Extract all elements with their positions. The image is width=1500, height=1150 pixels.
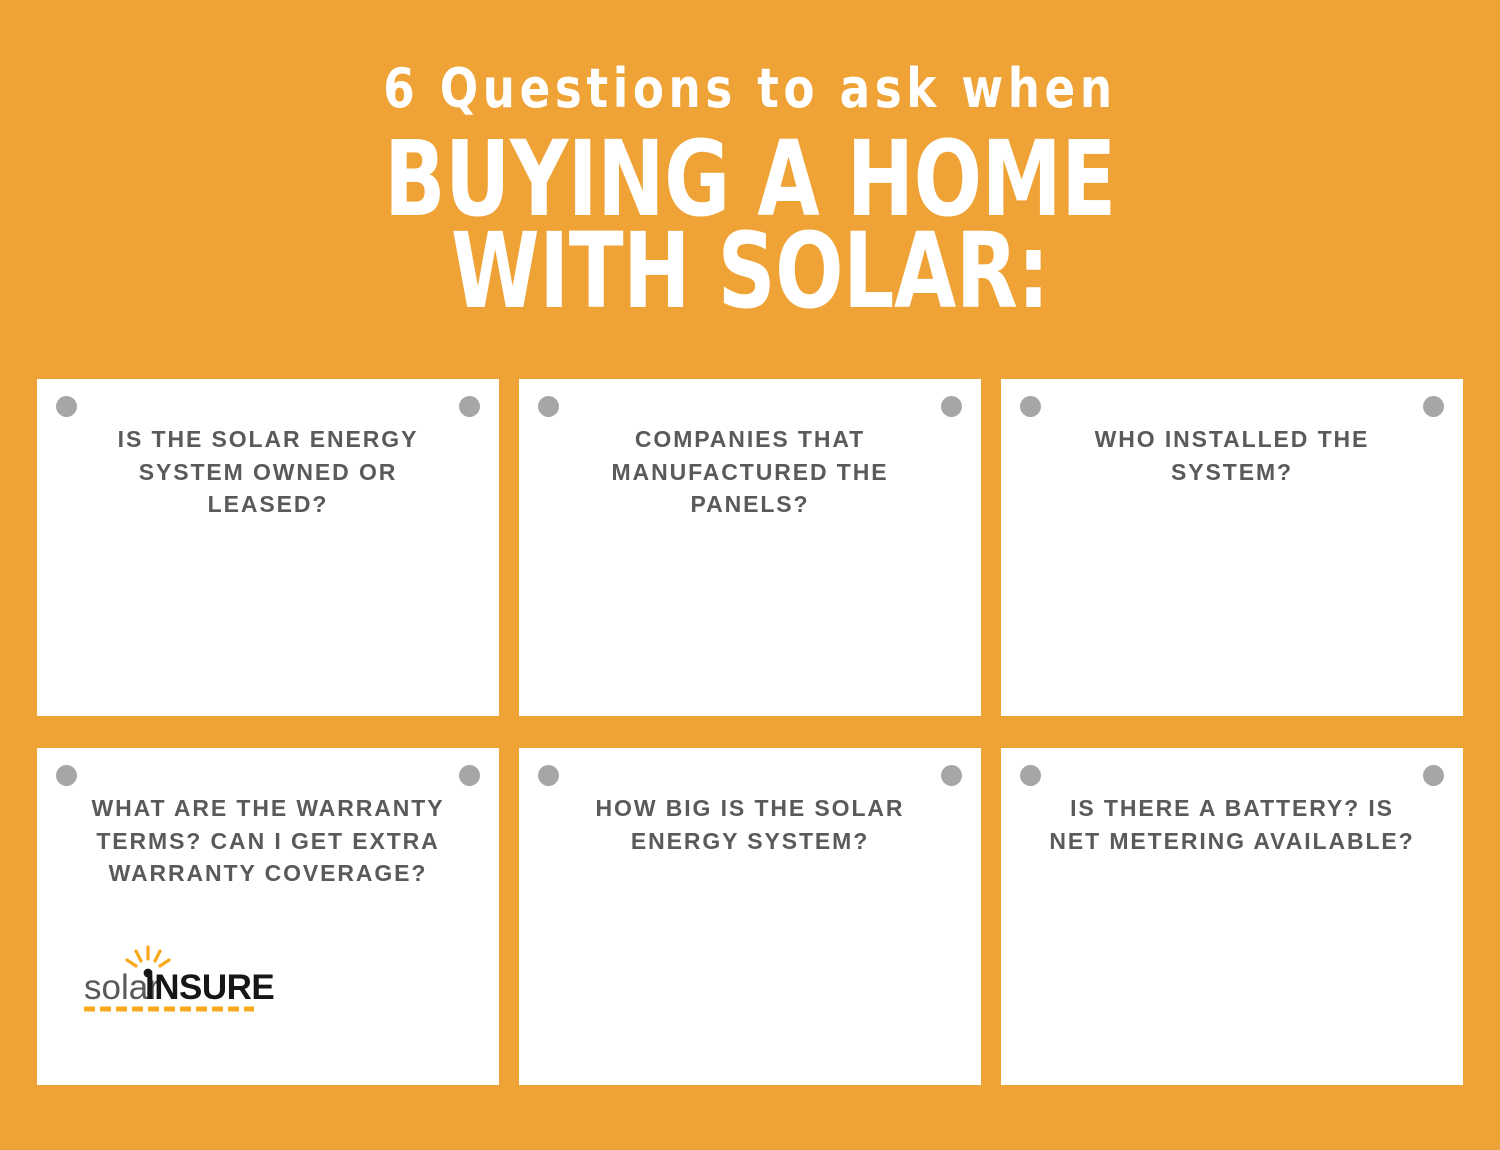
question-card-text: HOW BIG IS THE SOLAR ENERGY SYSTEM? [565, 792, 935, 857]
poster-title-line-2: WITH SOLAR: [105, 226, 1395, 318]
question-card-text: WHAT ARE THE WARRANTY TERMS? CAN I GET E… [83, 792, 453, 890]
poster-title: BUYING A HOME WITH SOLAR: [0, 134, 1500, 317]
question-card-text: COMPANIES THAT MANUFACTURED THE PANELS? [565, 423, 935, 521]
corner-dot-icon [459, 765, 480, 786]
corner-dot-icon [1423, 765, 1444, 786]
corner-dot-icon [538, 765, 559, 786]
question-card-4[interactable]: WHAT ARE THE WARRANTY TERMS? CAN I GET E… [37, 748, 499, 1085]
logo-text-insure: INSURE [145, 968, 274, 1007]
question-card-2[interactable]: COMPANIES THAT MANUFACTURED THE PANELS? [519, 379, 981, 716]
question-card-5[interactable]: HOW BIG IS THE SOLAR ENERGY SYSTEM? [519, 748, 981, 1085]
corner-dot-icon [56, 765, 77, 786]
question-card-3[interactable]: WHO INSTALLED THE SYSTEM? [1001, 379, 1463, 716]
corner-dot-icon [1020, 396, 1041, 417]
corner-dot-icon [941, 396, 962, 417]
corner-dot-icon [459, 396, 480, 417]
solar-insure-logo[interactable]: solar INSURE [82, 943, 282, 1023]
question-card-text: IS THERE A BATTERY? IS NET METERING AVAI… [1047, 792, 1417, 857]
corner-dot-icon [538, 396, 559, 417]
corner-dot-icon [941, 765, 962, 786]
question-card-text: WHO INSTALLED THE SYSTEM? [1047, 423, 1417, 488]
question-card-text: IS THE SOLAR ENERGY SYSTEM OWNED OR LEAS… [83, 423, 453, 521]
corner-dot-icon [56, 396, 77, 417]
question-card-1[interactable]: IS THE SOLAR ENERGY SYSTEM OWNED OR LEAS… [37, 379, 499, 716]
infographic-poster: 6 Questions to ask when BUYING A HOME WI… [0, 0, 1500, 1150]
question-card-grid: IS THE SOLAR ENERGY SYSTEM OWNED OR LEAS… [37, 379, 1463, 1085]
corner-dot-icon [1020, 765, 1041, 786]
poster-subtitle: 6 Questions to ask when [53, 62, 1448, 116]
sunburst-icon [127, 947, 169, 966]
question-card-6[interactable]: IS THERE A BATTERY? IS NET METERING AVAI… [1001, 748, 1463, 1085]
corner-dot-icon [1423, 396, 1444, 417]
poster-header: 6 Questions to ask when BUYING A HOME WI… [0, 0, 1500, 317]
